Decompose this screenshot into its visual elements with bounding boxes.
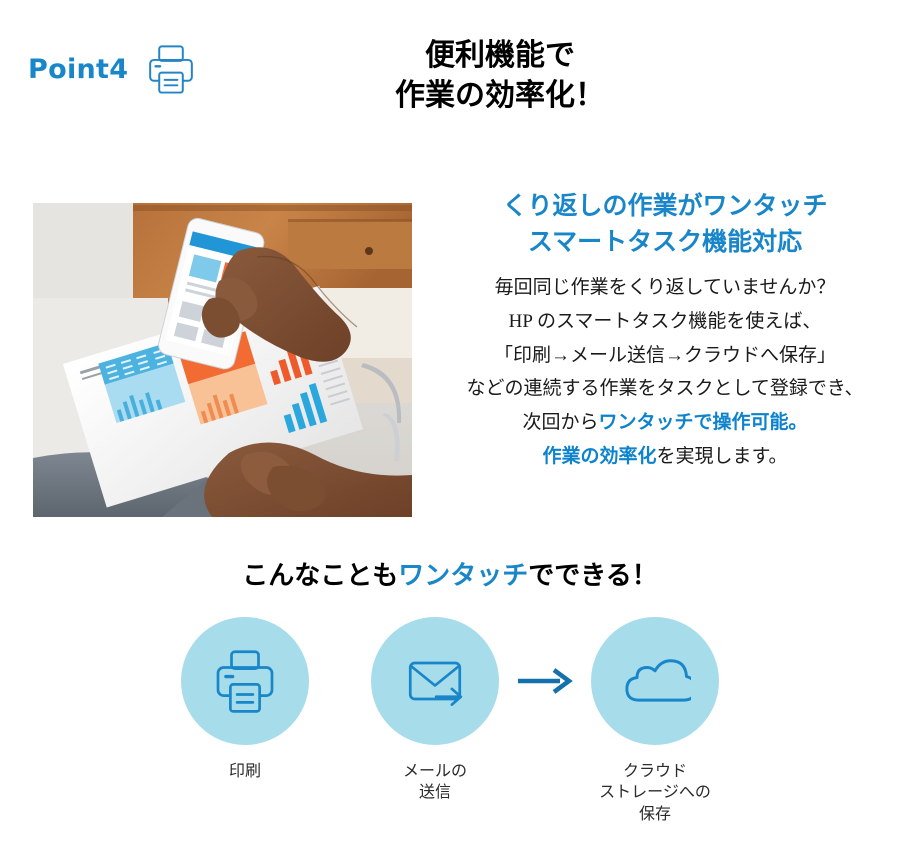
flow-title-highlight: ワンタッチ <box>398 561 528 591</box>
mail-send-icon <box>399 645 471 717</box>
flow-step-mail-label: メールの 送信 <box>360 761 510 804</box>
poster-root: Point4 便利機能で 作業の効率化！ <box>0 0 900 850</box>
body-line-4: などの連続する作業をタスクとして登録でき、 <box>440 372 890 406</box>
body-line-5: 次回からワンタッチで操作可能。 <box>440 406 890 440</box>
smart-task-photo <box>33 203 412 517</box>
flow-step-mail-circle <box>371 617 499 745</box>
section-body: 毎回同じ作業をくり返していませんか？ HP のスマートタスク機能を使えば、 「印… <box>440 271 890 474</box>
arrow-right-icon <box>510 617 580 745</box>
page-title: 便利機能で 作業の効率化！ <box>300 36 700 115</box>
body-line-6-plain: を実現します。 <box>656 446 787 467</box>
flow-row: 印刷 メールの 送信 <box>0 617 900 825</box>
body-line-2: HP のスマートタスク機能を使えば、 <box>440 305 890 339</box>
flow-step-print-label: 印刷 <box>170 761 320 782</box>
body-line-6: 作業の効率化を実現します。 <box>440 440 890 474</box>
section-subtitle: くり返しの作業がワンタッチ スマートタスク機能対応 <box>440 188 890 259</box>
printer-icon <box>209 645 281 717</box>
flow-step-mail: メールの 送信 <box>360 617 510 804</box>
page-title-line1: 便利機能で <box>300 36 700 76</box>
body-line-5-highlight: ワンタッチで操作可能。 <box>599 411 808 433</box>
flow-step-cloud: クラウド ストレージへの 保存 <box>580 617 730 825</box>
section-subtitle-line1: くり返しの作業がワンタッチ <box>440 188 890 224</box>
body-line-1: 毎回同じ作業をくり返していませんか？ <box>440 271 890 305</box>
flow-step-print-circle <box>181 617 309 745</box>
cloud-icon <box>619 645 691 717</box>
flow-title-after: でできる！ <box>528 561 657 591</box>
printer-icon <box>142 40 200 98</box>
flow-step-cloud-circle <box>591 617 719 745</box>
body-line-5-plain: 次回から <box>522 412 598 433</box>
page-title-line2: 作業の効率化！ <box>300 76 700 116</box>
section-subtitle-line2: スマートタスク機能対応 <box>440 224 890 260</box>
body-line-6-highlight: 作業の効率化 <box>542 445 656 467</box>
flow-title-before: こんなことも <box>242 561 398 591</box>
body-line-3: 「印刷→メール送信→クラウドへ保存」 <box>440 339 890 373</box>
flow-step-print: 印刷 <box>170 617 320 782</box>
flow-section-title: こんなこともワンタッチでできる！ <box>0 555 900 592</box>
point-label: Point4 <box>28 54 128 85</box>
point-badge: Point4 <box>28 40 200 98</box>
smart-task-text-block: くり返しの作業がワンタッチ スマートタスク機能対応 毎回同じ作業をくり返していま… <box>440 188 890 474</box>
flow-step-cloud-label: クラウド ストレージへの 保存 <box>580 761 730 825</box>
